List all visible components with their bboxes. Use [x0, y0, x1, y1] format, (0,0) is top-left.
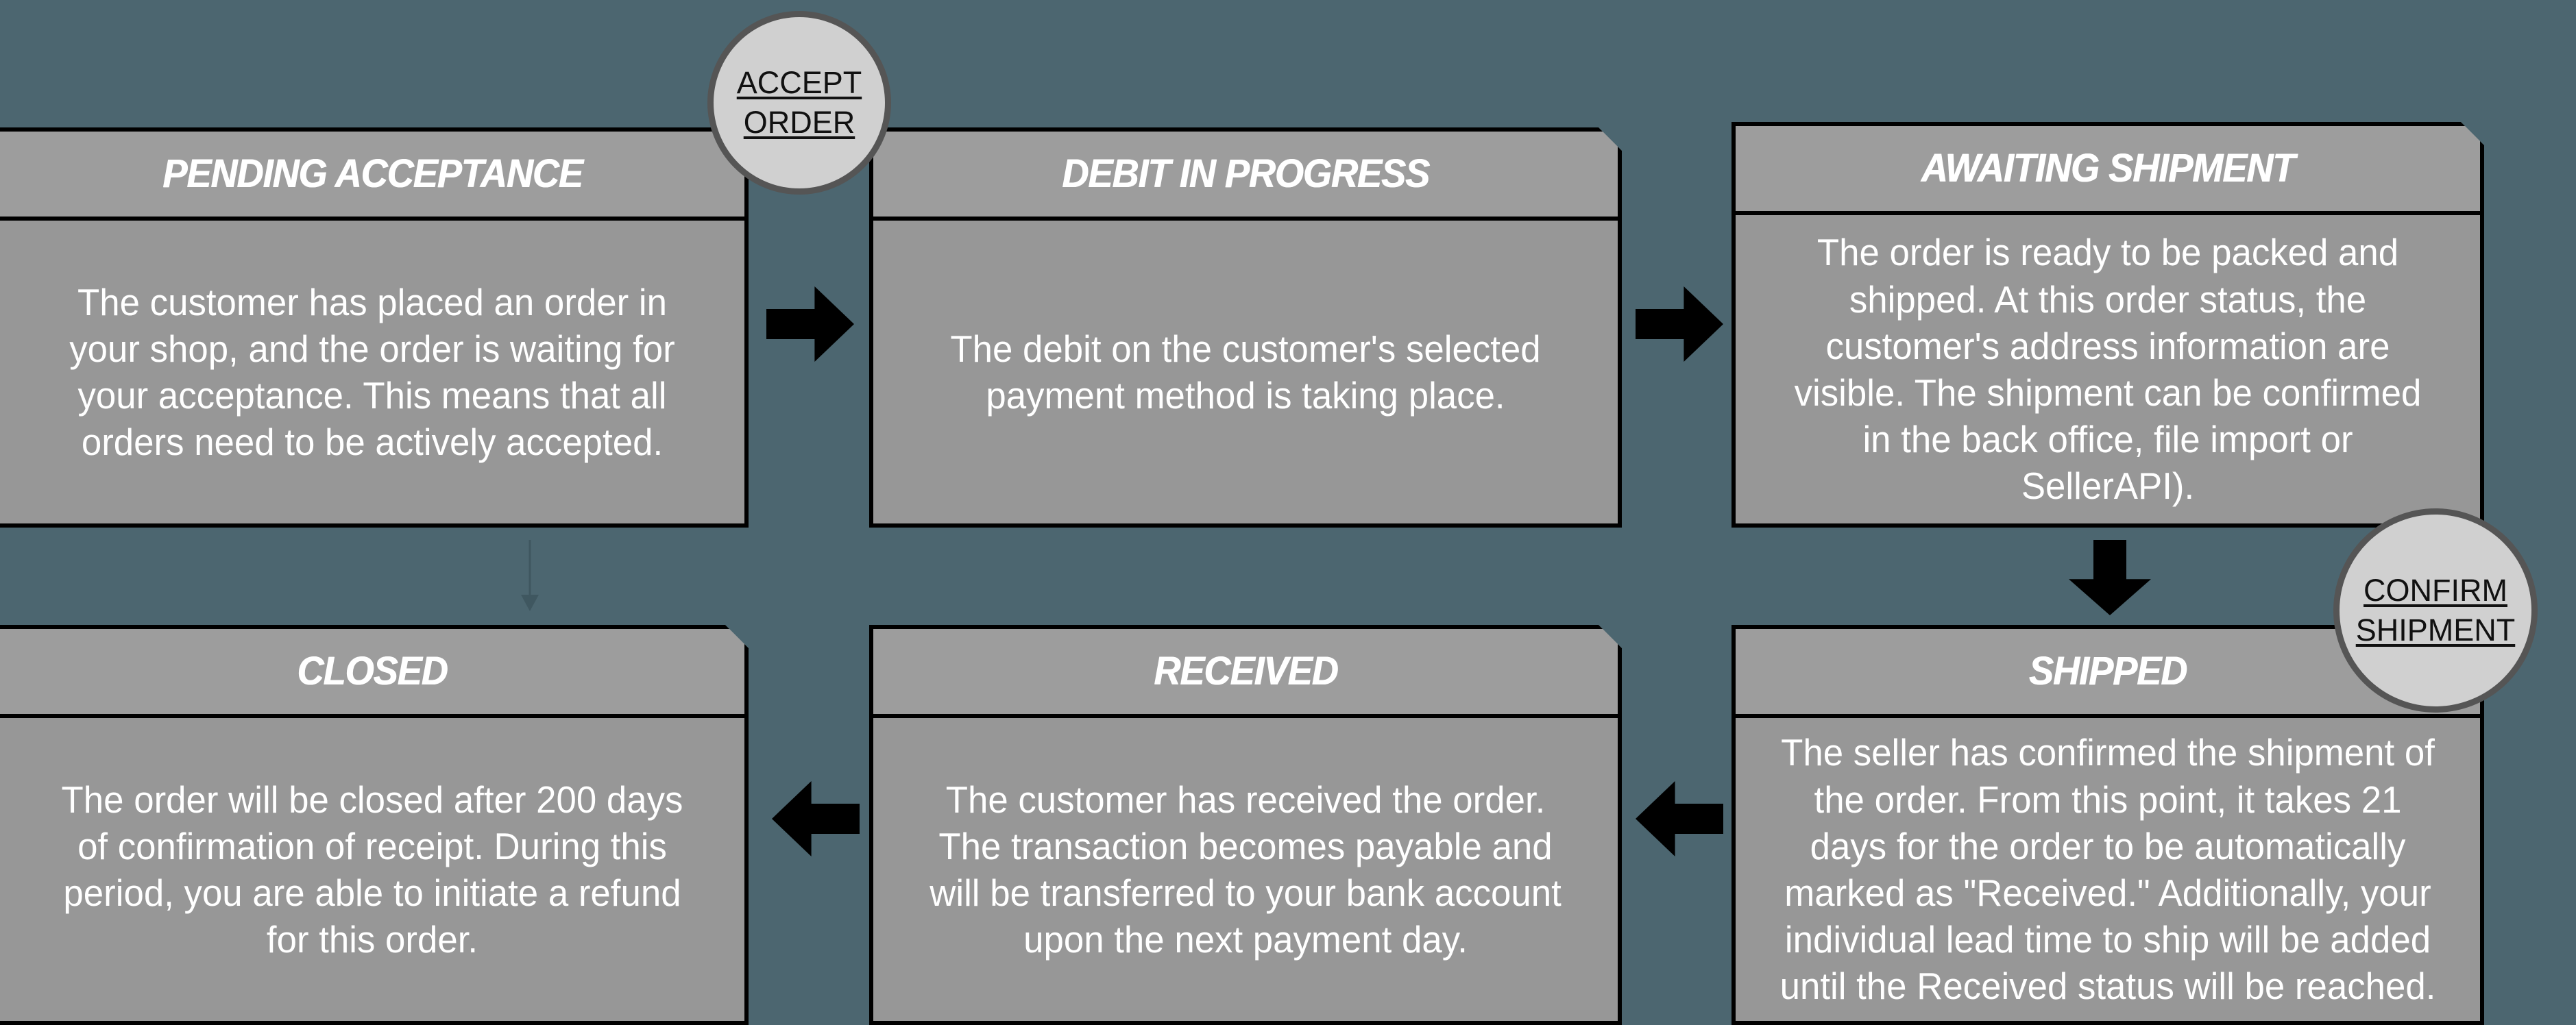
status-description: The customer has placed an order in your…	[44, 279, 701, 466]
action-label-line1: ACCEPT	[737, 63, 862, 103]
action-badge-accept-order[interactable]: ACCEPT ORDER	[707, 11, 891, 195]
arrow-debit-to-awaiting	[1636, 286, 1723, 362]
status-description: The seller has confirmed the shipment of…	[1779, 729, 2436, 1009]
status-card-body: The order is ready to be packed and ship…	[1736, 215, 2480, 523]
status-title: PENDING ACCEPTANCE	[162, 154, 583, 194]
status-title: SHIPPED	[2029, 652, 2187, 691]
status-card-awaiting-shipment[interactable]: AWAITING SHIPMENT The order is ready to …	[1731, 122, 2484, 528]
status-card-header: RECEIVED	[873, 629, 1618, 718]
status-card-header: PENDING ACCEPTANCE	[0, 132, 744, 221]
status-title: DEBIT IN PROGRESS	[1062, 154, 1429, 194]
status-title: CLOSED	[297, 652, 447, 691]
status-card-body: The customer has placed an order in your…	[0, 221, 744, 523]
status-description: The debit on the customer's selected pay…	[917, 325, 1574, 419]
arrow-pending-to-debit	[766, 286, 854, 362]
flow-diagram-canvas: PENDING ACCEPTANCE The customer has plac…	[0, 0, 2576, 1022]
status-card-header: AWAITING SHIPMENT	[1736, 126, 2480, 215]
status-description: The order will be closed after 200 days …	[44, 776, 701, 963]
status-card-debit-in-progress[interactable]: DEBIT IN PROGRESS The debit on the custo…	[869, 127, 1622, 528]
status-title: AWAITING SHIPMENT	[1921, 149, 2295, 188]
action-label-line2: SHIPMENT	[2356, 610, 2516, 650]
status-card-closed[interactable]: CLOSED The order will be closed after 20…	[0, 625, 749, 1025]
action-label-line1: CONFIRM	[2364, 571, 2507, 610]
status-card-header: DEBIT IN PROGRESS	[873, 132, 1618, 221]
status-card-received[interactable]: RECEIVED The customer has received the o…	[869, 625, 1622, 1025]
status-description: The customer has received the order. The…	[917, 776, 1574, 963]
arrow-shipped-to-received	[1636, 781, 1723, 856]
arrow-pending-to-closed	[521, 540, 539, 611]
action-badge-confirm-shipment[interactable]: CONFIRM SHIPMENT	[2333, 508, 2538, 713]
status-description: The order is ready to be packed and ship…	[1779, 229, 2436, 509]
arrow-awaiting-to-shipped	[2069, 540, 2151, 615]
status-card-body: The debit on the customer's selected pay…	[873, 221, 1618, 523]
status-card-body: The seller has confirmed the shipment of…	[1736, 718, 2480, 1021]
status-card-body: The customer has received the order. The…	[873, 718, 1618, 1021]
status-card-body: The order will be closed after 200 days …	[0, 718, 744, 1021]
action-label-line2: ORDER	[744, 103, 855, 143]
status-card-pending-acceptance[interactable]: PENDING ACCEPTANCE The customer has plac…	[0, 127, 749, 528]
status-card-header: CLOSED	[0, 629, 744, 718]
status-title: RECEIVED	[1154, 652, 1337, 691]
connector-stem	[529, 540, 531, 596]
arrow-received-to-closed	[772, 781, 860, 856]
connector-arrowhead-icon	[521, 595, 539, 611]
